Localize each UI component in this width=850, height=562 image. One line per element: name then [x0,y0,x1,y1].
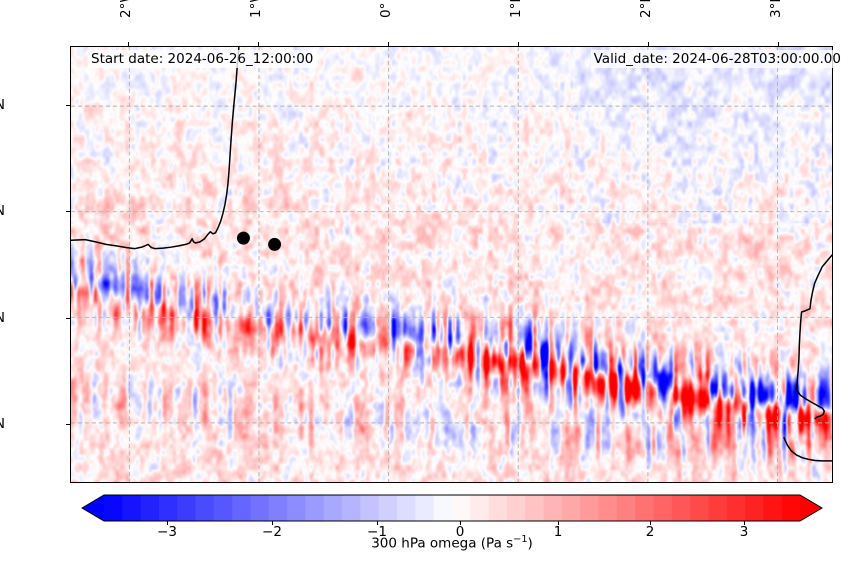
lon-tick-label-3: 1°E [508,0,524,18]
colorbar-swatch-34 [727,495,746,521]
colorbar-swatch-20 [470,495,489,521]
colorbar-swatch-25 [562,495,581,521]
lon-tick-label-0: 2°W [118,0,134,18]
lat-tick-label-0: 44°N [0,97,5,113]
lat-tick-label-1: 43.5°N [0,203,5,219]
colorbar-extend-max [800,495,822,521]
colorbar-swatch-36 [763,495,782,521]
colorbar-swatch-30 [653,495,672,521]
colorbar-swatch-21 [489,495,508,521]
colorbar-swatch-2 [141,495,160,521]
colorbar-swatch-14 [360,495,379,521]
colorbar-swatch-35 [745,495,764,521]
colorbar-swatch-6 [214,495,233,521]
colorbar-gradient [82,495,822,521]
valid-date-label: Valid_date: 2024-06-28T03:00:00.00 [591,50,844,68]
colorbar-swatch-28 [617,495,636,521]
colorbar-swatch-19 [452,495,471,521]
colorbar-swatch-9 [269,495,288,521]
colorbar-swatch-32 [690,495,709,521]
colorbar-swatch-8 [251,495,270,521]
colorbar-swatch-24 [544,495,563,521]
colorbar-swatch-18 [434,495,453,521]
colorbar-swatch-13 [342,495,361,521]
colorbar-swatch-33 [708,495,727,521]
figure-canvas: 2°W1°W0°1°E2°E3°E 44°N43.5°N43°N42.5°N S… [0,0,850,562]
station-marker-site-a[interactable] [237,232,250,245]
colorbar-swatch-29 [635,495,654,521]
station-markers[interactable] [71,47,832,482]
colorbar-swatch-31 [672,495,691,521]
colorbar-swatch-11 [305,495,324,521]
lat-tick-label-2: 43°N [0,310,5,326]
colorbar-swatch-7 [232,495,251,521]
lon-tick-label-1: 1°W [248,0,264,18]
colorbar-swatch-23 [525,495,544,521]
colorbar-swatch-12 [324,495,343,521]
start-date-label: Start date: 2024-06-26_12:00:00 [88,50,316,68]
colorbar[interactable]: −3−2−10123 300 hPa omega (Pa s−1) [82,495,822,521]
colorbar-swatch-5 [196,495,215,521]
lon-tick-label-5: 3°E [768,0,784,18]
colorbar-swatch-27 [599,495,618,521]
lon-tick-label-4: 2°E [638,0,654,18]
colorbar-extend-min [82,495,104,521]
colorbar-swatch-0 [104,495,123,521]
colorbar-swatch-3 [159,495,178,521]
station-marker-site-b[interactable] [268,238,281,251]
colorbar-swatch-37 [782,495,801,521]
colorbar-swatch-4 [177,495,196,521]
colorbar-swatch-17 [415,495,434,521]
colorbar-swatch-22 [507,495,526,521]
colorbar-swatch-15 [379,495,398,521]
colorbar-swatch-26 [580,495,599,521]
lat-tick-label-3: 42.5°N [0,416,5,432]
colorbar-swatch-16 [397,495,416,521]
colorbar-swatch-10 [287,495,306,521]
colorbar-axis-label: 300 hPa omega (Pa s−1) [82,534,822,552]
lon-tick-label-2: 0° [378,3,394,18]
colorbar-swatch-1 [122,495,141,521]
map-plot-area[interactable] [70,46,833,483]
